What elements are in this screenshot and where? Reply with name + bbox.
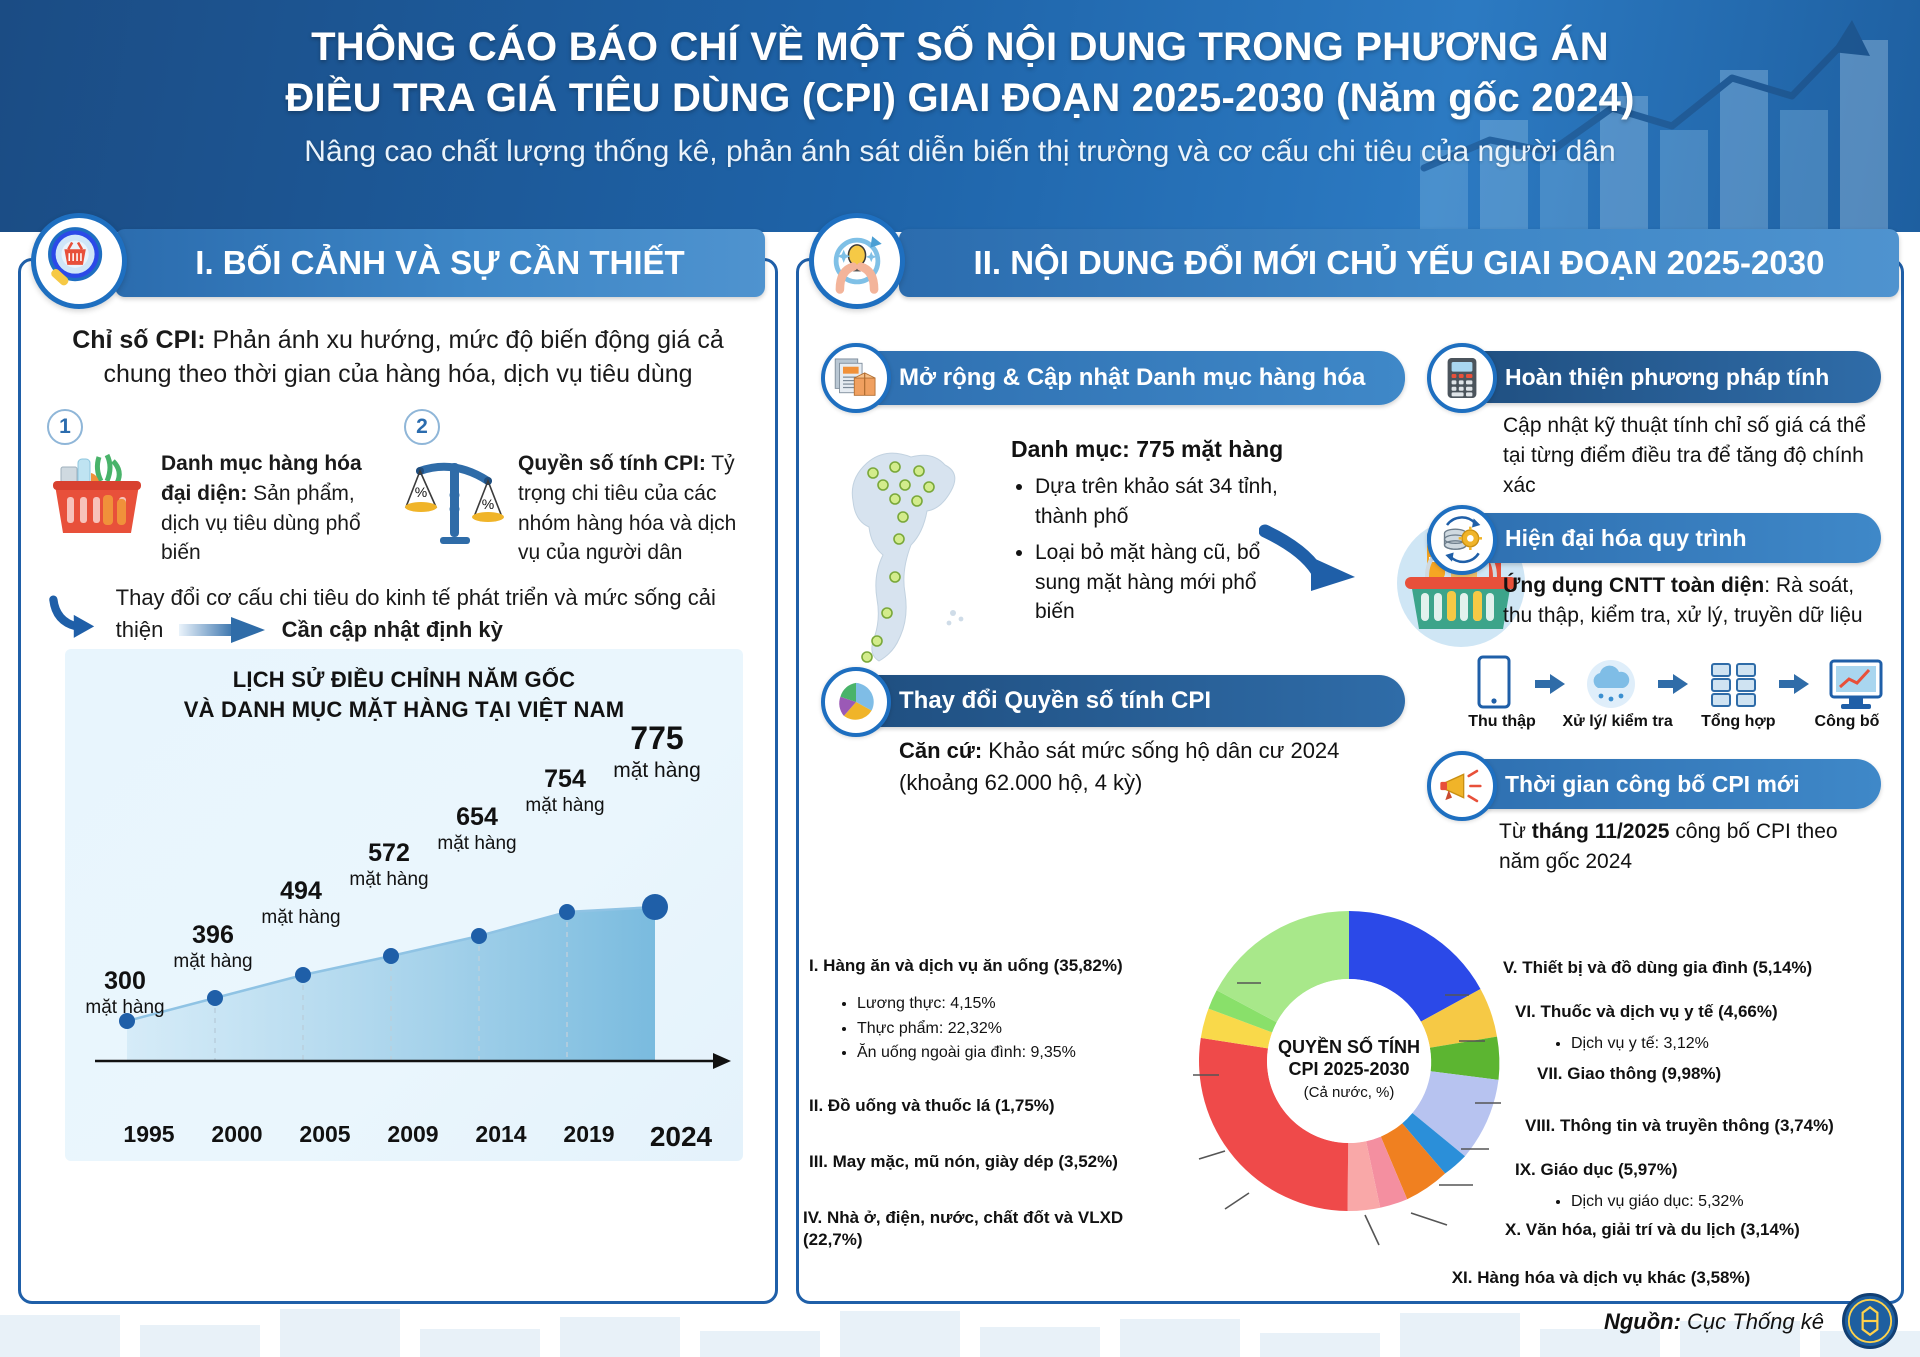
process-flow-labels: Thu thập Xử lý/ kiểm tra Tổng hợp Công b…: [1459, 713, 1895, 731]
block-1-content: Danh mục: 775 mặt hàng Dựa trên khảo sát…: [1011, 433, 1301, 633]
section-1-two-columns: 1: [47, 409, 749, 568]
donut-sub-3: Dịch vụ y tế: 3,12%: [1571, 1033, 1911, 1056]
donut-sub-4: Dịch vụ giáo dục: 5,32%: [1571, 1191, 1911, 1214]
block-5-basis: Căn cứ: Khảo sát mức sống hộ dân cư 2024…: [899, 735, 1409, 798]
flow-arrow-icon-1: [1535, 673, 1565, 695]
svg-text:654: 654: [456, 803, 498, 831]
cpi-definition: Chỉ số CPI: Phản ánh xu hướng, mức độ bi…: [47, 323, 749, 391]
section-1-conclusion: Thay đổi cơ cấu chi tiêu do kinh tế phát…: [47, 582, 749, 658]
donut-sub-1: Thực phẩm: 22,32%: [857, 1018, 1157, 1041]
block-1-lead-text: Danh mục: 775 mặt hàng: [1011, 436, 1283, 462]
bend-arrow-icon: [1259, 521, 1369, 601]
block-3-lead: Ứng dụng CNTT toàn diện: [1503, 574, 1764, 597]
innovation-hands-bulb-icon: [809, 213, 905, 309]
x-tick-2: 2005: [281, 1121, 369, 1153]
donut-label-group-2: II. Đồ uống và thuốc lá (1,75%): [809, 1095, 1135, 1117]
block-5-title: Thay đổi Quyền số tính CPI: [845, 675, 1405, 727]
source-label: Nguồn:: [1604, 1309, 1681, 1334]
chart-x-axis: 1995 2000 2005 2009 2014 2019 2024: [65, 1121, 743, 1153]
flow-label-0: Thu thập: [1459, 713, 1545, 731]
block-3-title: Hiện đại hóa quy trình: [1451, 513, 1881, 563]
database-stack-icon: [1704, 656, 1764, 712]
donut-sub-0: Lương thực: 4,15%: [857, 993, 1157, 1016]
header-title-line1: THÔNG CÁO BÁO CHÍ VỀ MỘT SỐ NỘI DUNG TRO…: [0, 22, 1920, 73]
process-flow: [1467, 653, 1887, 715]
block-2-text: Cập nhật kỹ thuật tính chỉ số giá cá thể…: [1503, 411, 1885, 502]
x-tick-3: 2009: [369, 1121, 457, 1153]
item-2-text: Quyền số tính CPI: Tỷ trọng chi tiêu của…: [518, 449, 749, 568]
x-tick-6: 2024: [633, 1121, 729, 1153]
database-gear-icon: [1427, 505, 1497, 575]
section-2-heading: II. NỘI DUNG ĐỔI MỚI CHỦ YẾU GIAI ĐOẠN 2…: [899, 229, 1899, 297]
chart-title-line1: LỊCH SỬ ĐIỀU CHỈNH NĂM GỐC: [65, 665, 743, 695]
balance-scale-percent-icon: % %: [404, 449, 508, 568]
conclusion-text-wrap: Thay đổi cơ cấu chi tiêu do kinh tế phát…: [116, 582, 749, 652]
donut-group-1-subitems: Lương thực: 4,15% Thực phẩm: 22,32% Ăn u…: [857, 993, 1157, 1067]
header-subtitle: Nâng cao chất lượng thống kê, phản ánh s…: [0, 132, 1920, 171]
magnifier-basket-icon: [31, 213, 127, 309]
block-1-lead: Danh mục: 775 mặt hàng: [1011, 433, 1301, 466]
svg-text:QUYỀN SỐ TÍNH: QUYỀN SỐ TÍNH: [1278, 1036, 1420, 1057]
donut-group-6-subitems: Dịch vụ y tế: 3,12%: [1571, 1033, 1911, 1062]
block-4-text-bold: tháng 11/2025: [1532, 820, 1670, 843]
section-1-panel: I. BỐI CẢNH VÀ SỰ CẦN THIẾT Chỉ số CPI: …: [18, 258, 778, 1304]
section-1-body: Chỉ số CPI: Phản ánh xu hướng, mức độ bi…: [21, 309, 775, 658]
item-2-title: Quyền số tính CPI:: [518, 452, 706, 475]
header-title-line2: ĐIỀU TRA GIÁ TIÊU DÙNG (CPI) GIAI ĐOẠN 2…: [0, 73, 1920, 124]
svg-text:mặt hàng: mặt hàng: [173, 951, 252, 972]
flow-label-3: Công bố: [1799, 713, 1895, 731]
chart-title-line2: VÀ DANH MỤC MẶT HÀNG TẠI VIỆT NAM: [65, 695, 743, 725]
block-4-title: Thời gian công bố CPI mới: [1451, 759, 1881, 809]
donut-label-group-11: XI. Hàng hóa và dịch vụ khác (3,58%): [1391, 1267, 1811, 1289]
cpi-definition-label: Chỉ số CPI:: [72, 326, 205, 354]
item-1-number: 1: [47, 409, 83, 445]
source-credit: Nguồn: Cục Thống kê: [1604, 1309, 1824, 1335]
block-3-text: Ứng dụng CNTT toàn diện: Rà soát, thu th…: [1503, 571, 1885, 631]
conclusion-emphasis: Cần cập nhật định kỳ: [282, 617, 503, 642]
donut-label-group-6: VI. Thuốc và dịch vụ y tế (4,66%): [1515, 1001, 1895, 1023]
history-area-chart: LỊCH SỬ ĐIỀU CHỈNH NĂM GỐC VÀ DANH MỤC M…: [65, 649, 743, 1161]
donut-label-group-1: I. Hàng ăn và dịch vụ ăn uống (35,82%): [809, 955, 1135, 977]
svg-text:494: 494: [280, 877, 322, 905]
pie-chart-icon: [821, 667, 891, 737]
donut-group-9-subitems: Dịch vụ giáo dục: 5,32%: [1571, 1191, 1911, 1220]
item-1-text: Danh mục hàng hóa đại diện: Sản phẩm, dị…: [161, 449, 392, 568]
svg-text:754: 754: [544, 765, 586, 793]
cloud-process-icon: [1580, 656, 1642, 712]
documents-box-icon: [821, 343, 891, 413]
page-header: THÔNG CÁO BÁO CHÍ VỀ MỘT SỐ NỘI DUNG TRO…: [0, 0, 1920, 232]
donut-label-group-10: X. Văn hóa, giải trí và du lịch (3,14%): [1505, 1219, 1885, 1241]
tablet-icon: [1467, 653, 1519, 715]
svg-text:%: %: [482, 496, 494, 512]
right-arrow-icon: [179, 617, 265, 652]
svg-text:mặt hàng: mặt hàng: [261, 907, 340, 928]
svg-text:396: 396: [192, 921, 234, 949]
x-tick-5: 2019: [545, 1121, 633, 1153]
svg-text:CPI 2025-2030: CPI 2025-2030: [1288, 1059, 1409, 1079]
flow-arrow-icon-3: [1779, 673, 1809, 695]
donut-sub-2: Ăn uống ngoài gia đình: 9,35%: [857, 1042, 1157, 1065]
section-2-body: Mở rộng & Cập nhật Danh mục hàng hóa D: [799, 309, 1901, 1299]
block-5-basis-label: Căn cứ:: [899, 738, 982, 763]
donut-label-group-9: IX. Giáo dục (5,97%): [1515, 1159, 1887, 1181]
svg-text:mặt hàng: mặt hàng: [349, 869, 428, 890]
x-tick-0: 1995: [105, 1121, 193, 1153]
megaphone-icon: [1427, 751, 1497, 821]
chart-title: LỊCH SỬ ĐIỀU CHỈNH NĂM GỐC VÀ DANH MỤC M…: [65, 649, 743, 724]
flow-arrow-icon-2: [1658, 673, 1688, 695]
section-1-item-2: 2 %: [404, 409, 749, 568]
monitor-chart-icon: [1825, 655, 1887, 713]
svg-text:mặt hàng: mặt hàng: [85, 997, 164, 1018]
block-4-text-pre: Từ: [1499, 820, 1532, 843]
curved-arrow-icon: [47, 582, 106, 658]
item-2-number: 2: [404, 409, 440, 445]
block-1-title: Mở rộng & Cập nhật Danh mục hàng hóa: [845, 351, 1405, 405]
shopping-basket-icon: [47, 449, 151, 568]
svg-text:(Cả nước, %): (Cả nước, %): [1304, 1084, 1395, 1101]
section-1-heading: I. BỐI CẢNH VÀ SỰ CẦN THIẾT: [115, 229, 765, 297]
vietnam-map-icon: [837, 427, 1003, 677]
infographic-page: THÔNG CÁO BÁO CHÍ VỀ MỘT SỐ NỘI DUNG TRO…: [0, 0, 1920, 1357]
source-value: Cục Thống kê: [1681, 1309, 1824, 1334]
donut-label-group-5: V. Thiết bị và đồ dùng gia đình (5,14%): [1503, 957, 1893, 979]
section-2-panel: II. NỘI DUNG ĐỔI MỚI CHỦ YẾU GIAI ĐOẠN 2…: [796, 258, 1904, 1304]
svg-text:mặt hàng: mặt hàng: [613, 759, 701, 782]
flow-label-2: Tổng hợp: [1690, 713, 1786, 731]
donut-label-group-3: III. May mặc, mũ nón, giày dép (3,52%): [809, 1151, 1135, 1173]
svg-text:%: %: [415, 484, 427, 500]
x-tick-4: 2014: [457, 1121, 545, 1153]
section-1-item-1: 1: [47, 409, 392, 568]
svg-text:mặt hàng: mặt hàng: [525, 795, 604, 816]
donut-label-group-7: VII. Giao thông (9,98%): [1537, 1063, 1897, 1085]
calculator-icon: [1427, 343, 1497, 413]
block-2-title: Hoàn thiện phương pháp tính: [1451, 351, 1881, 403]
svg-text:572: 572: [368, 839, 410, 867]
donut-label-group-8: VIII. Thông tin và truyền thông (3,74%): [1525, 1115, 1897, 1137]
chart-plot-area: 300 mặt hàng 396 mặt hàng 494 mặt hàng 5…: [65, 721, 743, 1119]
flow-label-1: Xử lý/ kiểm tra: [1558, 713, 1678, 731]
svg-text:775: 775: [630, 721, 683, 756]
agency-seal-icon: [1842, 1293, 1898, 1349]
x-tick-1: 2000: [193, 1121, 281, 1153]
donut-label-group-4: IV. Nhà ở, điện, nước, chất đốt và VLXD …: [803, 1207, 1143, 1251]
cpi-weight-donut-chart: QUYỀN SỐ TÍNH CPI 2025-2030 (Cả nước, %): [1129, 861, 1569, 1261]
svg-text:300: 300: [104, 967, 146, 995]
svg-text:mặt hàng: mặt hàng: [437, 833, 516, 854]
